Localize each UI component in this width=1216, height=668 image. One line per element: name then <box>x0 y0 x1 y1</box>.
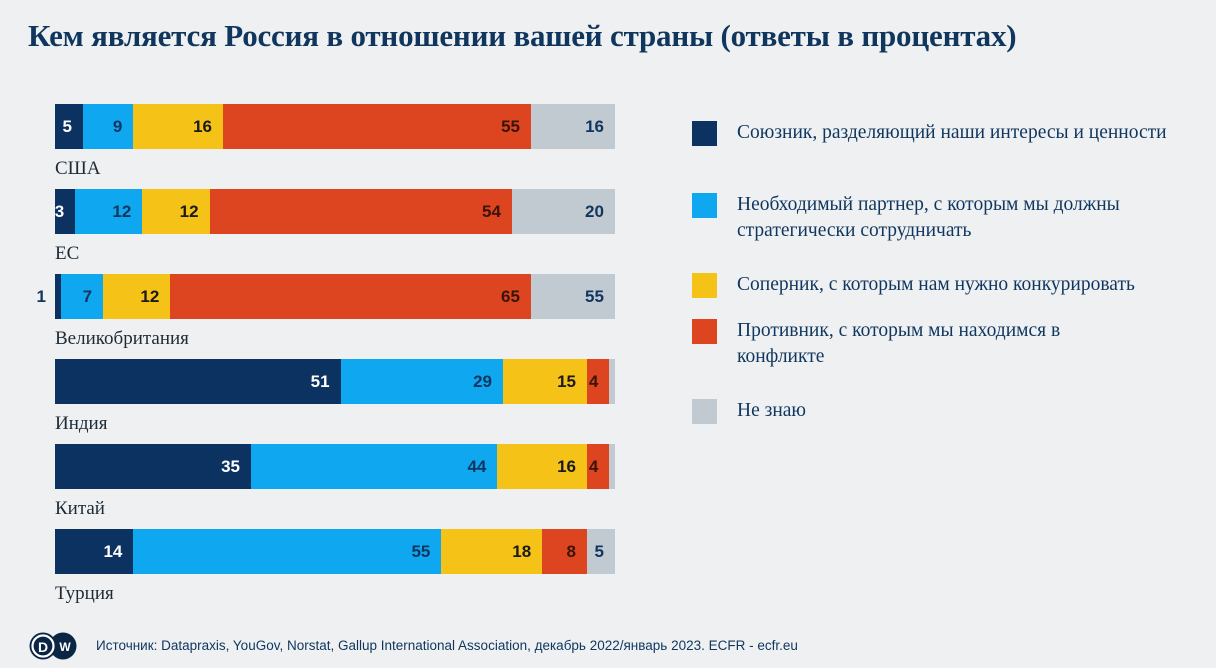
bar-segment-value: 7 <box>83 274 103 319</box>
bar-segment-value: 15 <box>557 359 587 404</box>
chart-footer: D W Источник: Datapraxis, YouGov, Norsta… <box>0 628 1216 668</box>
bar-segment-rival[interactable]: 16 <box>497 444 587 489</box>
bar-segment-unknown[interactable]: 1 <box>609 444 615 489</box>
bar-segment-value: 4 <box>589 444 609 489</box>
legend-label: Соперник, с которым нам нужно конкуриров… <box>737 272 1135 298</box>
legend-label: Не знаю <box>737 398 806 424</box>
chart-root: Кем является Россия в отношении вашей ст… <box>0 0 1216 668</box>
country-label: Великобритания <box>55 326 189 352</box>
bar-segment-rival[interactable]: 12 <box>142 189 209 234</box>
bar-segment-unknown[interactable]: 55 <box>531 274 615 319</box>
bar-segment-adversary[interactable]: 4 <box>587 444 609 489</box>
svg-text:W: W <box>59 640 71 654</box>
bar-track: 35441641 <box>55 444 615 489</box>
bar-segment-rival[interactable]: 18 <box>441 529 542 574</box>
dw-logo-icon: D W <box>28 632 90 660</box>
legend-swatch-icon <box>692 319 717 344</box>
country-label: Индия <box>55 411 107 437</box>
bar-segment-value: 55 <box>585 274 615 319</box>
bar-segment-value: 16 <box>193 104 223 149</box>
bar-segment-value: 35 <box>221 444 251 489</box>
bar-segment-ally[interactable]: 3 <box>55 189 75 234</box>
bar-group: 17126555Великобритания <box>0 274 660 359</box>
bar-group: 312125420ЕС <box>0 189 660 274</box>
bar-segment-ally[interactable]: 51 <box>55 359 341 404</box>
bar-track: 312125420 <box>55 189 615 234</box>
bar-segment-value: 44 <box>467 444 497 489</box>
country-label: Турция <box>55 581 114 607</box>
bar-segment-partner[interactable]: 44 <box>251 444 497 489</box>
bar-segment-value: 16 <box>585 104 615 149</box>
legend-label: Необходимый партнер, с которым мы должны… <box>737 192 1137 244</box>
bar-segment-value: 12 <box>180 189 210 234</box>
bar-segment-value: 12 <box>112 189 142 234</box>
legend-item-rival[interactable]: Соперник, с которым нам нужно конкуриров… <box>692 272 1135 298</box>
bar-segment-value: 54 <box>482 189 512 234</box>
bar-segment-rival[interactable]: 16 <box>133 104 223 149</box>
bar-segment-adversary[interactable]: 54 <box>210 189 512 234</box>
bar-segment-value: 1 <box>37 274 46 319</box>
legend-item-unknown[interactable]: Не знаю <box>692 398 806 424</box>
bar-track: 59165516 <box>55 104 615 149</box>
bar-segment-rival[interactable]: 15 <box>503 359 587 404</box>
svg-text:D: D <box>38 639 48 655</box>
bar-group: 51291541Индия <box>0 359 660 444</box>
legend-label: Противник, с которым мы находимся в конф… <box>737 318 1067 370</box>
bar-segment-ally[interactable]: 14 <box>55 529 133 574</box>
bar-segment-adversary[interactable]: 4 <box>587 359 609 404</box>
bar-segment-value: 9 <box>113 104 133 149</box>
bar-segment-ally[interactable]: 35 <box>55 444 251 489</box>
legend-item-ally[interactable]: Союзник, разделяющий наши интересы и цен… <box>692 120 1167 146</box>
bar-segment-value: 16 <box>557 444 587 489</box>
bar-segment-value: 5 <box>595 529 615 574</box>
legend-label: Союзник, разделяющий наши интересы и цен… <box>737 120 1167 146</box>
stacked-bar-chart: 59165516США312125420ЕС17126555Великобрит… <box>0 104 660 614</box>
legend-swatch-icon <box>692 273 717 298</box>
bar-segment-value: 65 <box>501 274 531 319</box>
bar-segment-unknown[interactable]: 1 <box>609 359 615 404</box>
bar-segment-value: 4 <box>589 359 609 404</box>
bar-segment-value: 14 <box>103 529 133 574</box>
legend-swatch-icon <box>692 121 717 146</box>
bar-segment-value: 55 <box>411 529 441 574</box>
bar-segment-partner[interactable]: 12 <box>75 189 142 234</box>
bar-segment-partner[interactable]: 55 <box>133 529 441 574</box>
bar-segment-unknown[interactable]: 16 <box>531 104 615 149</box>
bar-segment-value: 20 <box>585 189 615 234</box>
bar-segment-adversary[interactable]: 8 <box>542 529 587 574</box>
bar-segment-value: 8 <box>567 529 587 574</box>
legend-swatch-icon <box>692 193 717 218</box>
bar-track: 17126555 <box>55 274 615 319</box>
bar-segment-value: 29 <box>473 359 503 404</box>
bar-segment-value: 18 <box>512 529 542 574</box>
bar-segment-value: 3 <box>55 189 75 234</box>
bar-track: 14551885 <box>55 529 615 574</box>
bar-segment-unknown[interactable]: 5 <box>587 529 615 574</box>
bar-segment-value: 5 <box>63 104 83 149</box>
bar-segment-unknown[interactable]: 20 <box>512 189 615 234</box>
bar-segment-value: 51 <box>311 359 341 404</box>
bar-segment-partner[interactable]: 9 <box>83 104 133 149</box>
bar-segment-adversary[interactable]: 65 <box>170 274 531 319</box>
bar-segment-rival[interactable]: 12 <box>103 274 170 319</box>
country-label: США <box>55 156 101 182</box>
page-title: Кем является Россия в отношении вашей ст… <box>28 16 1158 56</box>
bar-segment-adversary[interactable]: 55 <box>223 104 531 149</box>
bar-segment-partner[interactable]: 7 <box>61 274 104 319</box>
bar-group: 35441641Китай <box>0 444 660 529</box>
bar-group: 14551885Турция <box>0 529 660 614</box>
legend-swatch-icon <box>692 399 717 424</box>
bar-segment-value: 55 <box>501 104 531 149</box>
bar-segment-partner[interactable]: 29 <box>341 359 503 404</box>
country-label: ЕС <box>55 241 79 267</box>
legend-item-partner[interactable]: Необходимый партнер, с которым мы должны… <box>692 192 1137 244</box>
bar-segment-ally[interactable]: 5 <box>55 104 83 149</box>
legend-item-adversary[interactable]: Противник, с которым мы находимся в конф… <box>692 318 1067 370</box>
source-text: Источник: Datapraxis, YouGov, Norstat, G… <box>96 636 798 656</box>
bar-segment-value: 12 <box>140 274 170 319</box>
bar-group: 59165516США <box>0 104 660 189</box>
bar-track: 51291541 <box>55 359 615 404</box>
country-label: Китай <box>55 496 105 522</box>
